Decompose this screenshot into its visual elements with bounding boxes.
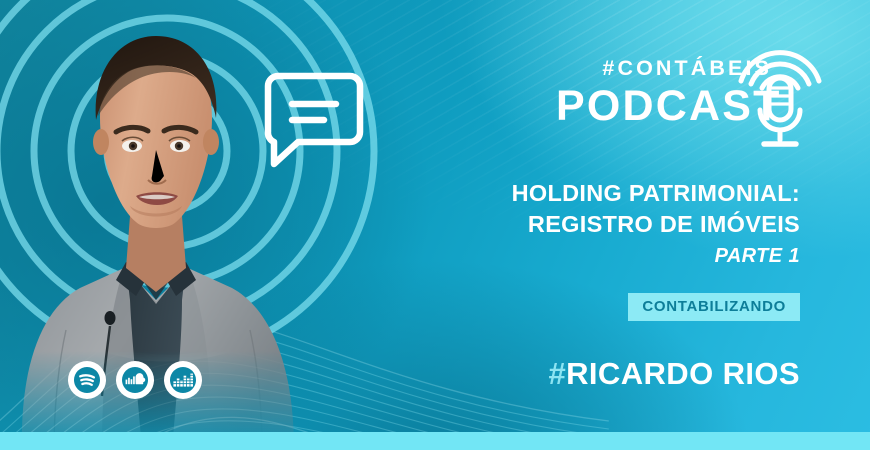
bottom-accent-bar [0, 432, 870, 450]
social-links [68, 361, 202, 399]
episode-title: HOLDING PATRIMONIAL: REGISTRO DE IMÓVEIS… [330, 178, 800, 271]
episode-part-label: PARTE 1 [330, 241, 800, 271]
title-line-2: REGISTRO DE IMÓVEIS [330, 209, 800, 240]
social-link-deezer[interactable] [164, 361, 202, 399]
guest-name: #RICARDO RIOS [548, 358, 800, 389]
spotify-icon [74, 367, 100, 393]
title-line-1: HOLDING PATRIMONIAL: [330, 178, 800, 209]
podcast-logo: #CONTÁBEIS PODCAST [556, 58, 804, 150]
social-link-spotify[interactable] [68, 361, 106, 399]
podcast-episode-banner: #CONTÁBEIS PODCAST H [0, 0, 870, 450]
soundcloud-icon [122, 367, 148, 393]
guest-name-hash: # [548, 356, 566, 391]
equalizer-bars-icon [170, 367, 196, 393]
microphone-broadcast-icon [738, 44, 822, 152]
guest-name-text: RICARDO RIOS [566, 356, 800, 391]
status-badge: CONTABILIZANDO [628, 293, 800, 321]
category-badge-wrap: CONTABILIZANDO [628, 293, 800, 321]
social-link-soundcloud[interactable] [116, 361, 154, 399]
speech-bubble-icon [262, 70, 366, 170]
